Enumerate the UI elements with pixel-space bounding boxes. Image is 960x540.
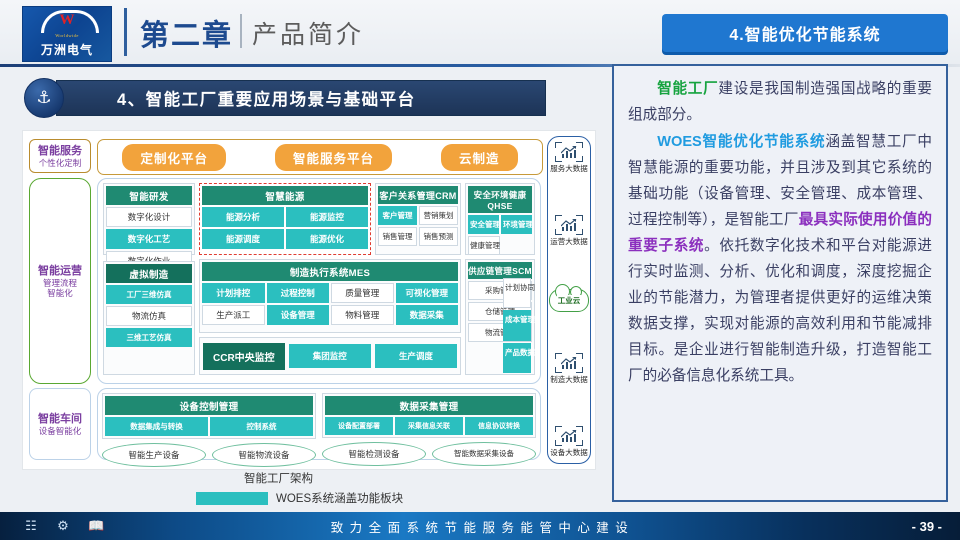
- chart-bracket-icon: [555, 215, 583, 235]
- module-header: CCR中央监控: [203, 343, 285, 370]
- module-header: 客户关系管理CRM: [378, 186, 458, 204]
- module-cell[interactable]: 产品数据: [503, 343, 531, 373]
- module-cell[interactable]: 健康管理: [468, 236, 500, 255]
- module-cell[interactable]: 成本管理: [503, 310, 531, 340]
- equipment-oval[interactable]: 智能物流设备: [212, 443, 316, 467]
- right-text-panel: 智能工厂建设是我国制造强国战略的重要组成部分。 WOES智能优化节能系统涵盖智慧…: [612, 64, 948, 502]
- equipment-oval-row-right: 智能检测设备 智能数据采集设备: [322, 442, 536, 466]
- module-cell[interactable]: 物流仿真: [106, 306, 192, 326]
- module-rd: 智能研发 数字化设计 数字化工艺 数字化作业: [103, 183, 195, 255]
- bigdata-label: 服务大数据: [550, 163, 588, 174]
- bigdata-label: 运营大数据: [550, 236, 588, 247]
- bigdata-service[interactable]: 服务大数据: [550, 142, 588, 174]
- module-cell[interactable]: 生产派工: [202, 305, 265, 325]
- module-cell[interactable]: 能源分析: [202, 207, 284, 227]
- module-cell[interactable]: 数据集成与转换: [105, 417, 208, 436]
- lane-smart-service: 智能服务 个性化定制: [29, 139, 91, 173]
- equipment-oval[interactable]: 智能检测设备: [322, 442, 426, 466]
- module-cell[interactable]: 数字化设计: [106, 207, 192, 227]
- module-cell[interactable]: 能源监控: [286, 207, 368, 227]
- module-header: 智慧能源: [202, 186, 368, 205]
- module-crm: 客户关系管理CRM 客户管理 营销策划 销售管理 销售预测: [375, 183, 461, 255]
- right-banner-title: 4.智能优化节能系统: [729, 21, 880, 45]
- module-cell[interactable]: 设备配置部署: [325, 417, 393, 435]
- diagram-main-area: 智能服务 个性化定制 智能运营 管理流程 智能化 智能车间 设备智能化 定制化平…: [29, 136, 543, 464]
- platform-row: 定制化平台 智能服务平台 云制造: [97, 139, 543, 175]
- module-header: 智能研发: [106, 186, 192, 205]
- right-banner: 4.智能优化节能系统: [662, 14, 948, 52]
- module-header: 供应链管理SCM: [468, 262, 532, 279]
- module-cell[interactable]: 过程控制: [267, 283, 330, 303]
- equipment-oval-row-left: 智能生产设备 智能物流设备: [102, 443, 316, 467]
- module-cell[interactable]: 生产调度: [375, 344, 457, 368]
- paragraph-2: WOES智能优化节能系统涵盖智慧工厂中智慧能源的重要功能，并且涉及到其它系统的基…: [628, 129, 932, 389]
- legend-label: WOES系统涵盖功能板块: [276, 490, 403, 506]
- module-cell[interactable]: 营销策划: [419, 206, 458, 225]
- module-header: 设备控制管理: [105, 396, 313, 415]
- module-header: 虚拟制造: [106, 264, 192, 283]
- lane-title: 智能车间: [38, 413, 82, 426]
- module-cell[interactable]: 可视化管理: [396, 283, 459, 303]
- lane-subtitle-line1: 管理流程: [43, 278, 77, 288]
- module-cell[interactable]: 销售预测: [419, 227, 458, 246]
- module-smart-energy: 智慧能源 能源分析 能源监控 能源调度 能源优化: [199, 183, 371, 255]
- module-mes: 制造执行系统MES 计划排控 过程控制 质量管理 可视化管理 生产派工 设备管理…: [199, 259, 461, 333]
- module-equipment-control: 设备控制管理 数据集成与转换 控制系统: [102, 393, 316, 439]
- module-cell[interactable]: 控制系统: [210, 417, 313, 436]
- module-cell[interactable]: 集团监控: [289, 344, 371, 368]
- legend-color-swatch: [196, 492, 268, 505]
- platform-pill-cloud[interactable]: 云制造: [441, 144, 518, 171]
- module-cell-empty: [502, 236, 532, 255]
- module-header: 数据采集管理: [325, 396, 533, 415]
- slide-footer: ☷ ⚙ 📖 致 力 全 面 系 统 节 能 服 务 能 管 中 心 建 设 - …: [0, 512, 960, 540]
- module-cell[interactable]: 客户管理: [378, 206, 417, 225]
- bigdata-label: 设备大数据: [550, 447, 588, 458]
- module-cell[interactable]: 采集信息关联: [395, 417, 463, 435]
- lane-subtitle: 设备智能化: [39, 426, 82, 436]
- section-title-text: 4、智能工厂重要应用场景与基础平台: [57, 86, 416, 110]
- equipment-control-column: 设备控制管理 数据集成与转换 控制系统 智能生产设备 智能物流设备: [102, 393, 316, 455]
- chapter-title: 第二章: [140, 12, 233, 54]
- lane-smart-operation: 智能运营 管理流程 智能化: [29, 178, 91, 384]
- cloud-label: 工业云: [557, 295, 582, 306]
- ship-icon: ⚓: [24, 78, 64, 118]
- chart-bracket-icon: [555, 426, 583, 446]
- lane-subtitle-line2: 智能化: [47, 288, 73, 298]
- module-header: 安全环境健康QHSE: [468, 186, 532, 213]
- module-cell[interactable]: 销售管理: [378, 227, 417, 246]
- equipment-oval[interactable]: 智能生产设备: [102, 443, 206, 467]
- logo-worldwide-text: Worldwide: [55, 33, 78, 38]
- header-divider: [124, 8, 127, 56]
- chart-bracket-icon: [555, 142, 583, 162]
- module-cell[interactable]: 质量管理: [331, 283, 394, 303]
- operation-grid: 智能研发 数字化设计 数字化工艺 数字化作业 虚拟制造 工厂三维仿真 物流仿真: [97, 178, 541, 384]
- chapter-separator: [240, 14, 242, 48]
- logo-mark-icon: W: [41, 10, 93, 32]
- module-cell[interactable]: 物料管理: [331, 305, 394, 325]
- lane-subtitle: 个性化定制: [39, 158, 82, 168]
- equipment-oval[interactable]: 智能数据采集设备: [432, 442, 536, 466]
- bigdata-equipment[interactable]: 设备大数据: [550, 426, 588, 458]
- module-cell[interactable]: 环境管理: [501, 215, 532, 234]
- logo-letter: W: [41, 13, 93, 28]
- logo-company-name: 万洲电气: [41, 41, 93, 58]
- lane-title: 智能服务: [38, 145, 82, 158]
- module-cell[interactable]: 三维工艺仿真: [106, 328, 192, 347]
- module-virtual-manufacturing: 虚拟制造 工厂三维仿真 物流仿真 三维工艺仿真: [103, 261, 195, 375]
- module-ccr: CCR中央监控 集团监控 生产调度: [199, 337, 461, 375]
- module-qhse: 安全环境健康QHSE 安全管理 环境管理 健康管理: [465, 183, 535, 255]
- module-cell[interactable]: 能源优化: [286, 229, 368, 249]
- smart-factory-diagram: 智能服务 个性化定制 智能运营 管理流程 智能化 智能车间 设备智能化 定制化平…: [22, 130, 596, 470]
- bigdata-sidebar: 服务大数据 运营大数据 工业云 制造大数据: [547, 136, 591, 464]
- paragraph-2-rest: 。依托数字化技术和平台对能源进行实时监测、分析、优化和调度，深度挖掘企业的节能潜…: [628, 238, 932, 384]
- platform-pill-service[interactable]: 智能服务平台: [275, 144, 392, 171]
- module-cell[interactable]: 能源调度: [202, 229, 284, 249]
- module-cell[interactable]: 计划排控: [202, 283, 265, 303]
- platform-pill-custom[interactable]: 定制化平台: [122, 144, 226, 171]
- lane-title: 智能运营: [38, 265, 82, 278]
- chart-bracket-icon: [555, 353, 583, 373]
- paragraph-1: 智能工厂建设是我国制造强国战略的重要组成部分。: [628, 76, 932, 128]
- data-collection-column: 数据采集管理 设备配置部署 采集信息关联 信息协议转换 智能检测设备 智能数据采…: [322, 393, 536, 455]
- chapter-subtitle: 产品简介: [252, 15, 364, 51]
- page-number: - 39 -: [912, 512, 942, 540]
- module-cell[interactable]: 工厂三维仿真: [106, 285, 192, 304]
- module-cell[interactable]: 信息协议转换: [465, 417, 533, 435]
- section-title-bar: 4、智能工厂重要应用场景与基础平台: [56, 80, 546, 116]
- module-cell[interactable]: 数字化工艺: [106, 229, 192, 249]
- workshop-grid: 设备控制管理 数据集成与转换 控制系统 智能生产设备 智能物流设备 数据采集管理: [97, 388, 541, 460]
- module-cell[interactable]: 数据采集: [396, 305, 459, 325]
- module-cell[interactable]: 计划协同: [503, 278, 531, 308]
- cloud-icon[interactable]: 工业云: [549, 289, 589, 312]
- bigdata-manufacturing[interactable]: 制造大数据: [550, 353, 588, 385]
- module-cell[interactable]: 安全管理: [468, 215, 499, 234]
- bigdata-operation[interactable]: 运营大数据: [550, 215, 588, 247]
- diagram-caption: 智能工厂架构: [244, 470, 313, 486]
- module-data-collection: 数据采集管理 设备配置部署 采集信息关联 信息协议转换: [322, 393, 536, 438]
- keyword-woes: WOES智能优化节能系统: [657, 134, 825, 150]
- module-scm-right-column: 计划协同 成本管理 产品数据: [466, 278, 534, 373]
- bigdata-label: 制造大数据: [550, 374, 588, 385]
- footer-slogan: 致 力 全 面 系 统 节 能 服 务 能 管 中 心 建 设: [0, 512, 960, 540]
- module-cell[interactable]: 设备管理: [267, 305, 330, 325]
- section-title-block: 4、智能工厂重要应用场景与基础平台 ⚓: [24, 78, 544, 116]
- keyword-smart-factory: 智能工厂: [657, 81, 718, 97]
- slide: W Worldwide 万洲电气 第二章 产品简介 4、智能工厂重要应用场景与基…: [0, 0, 960, 540]
- lane-smart-workshop: 智能车间 设备智能化: [29, 388, 91, 460]
- company-logo: W Worldwide 万洲电气: [22, 6, 112, 62]
- module-header: 制造执行系统MES: [202, 262, 458, 281]
